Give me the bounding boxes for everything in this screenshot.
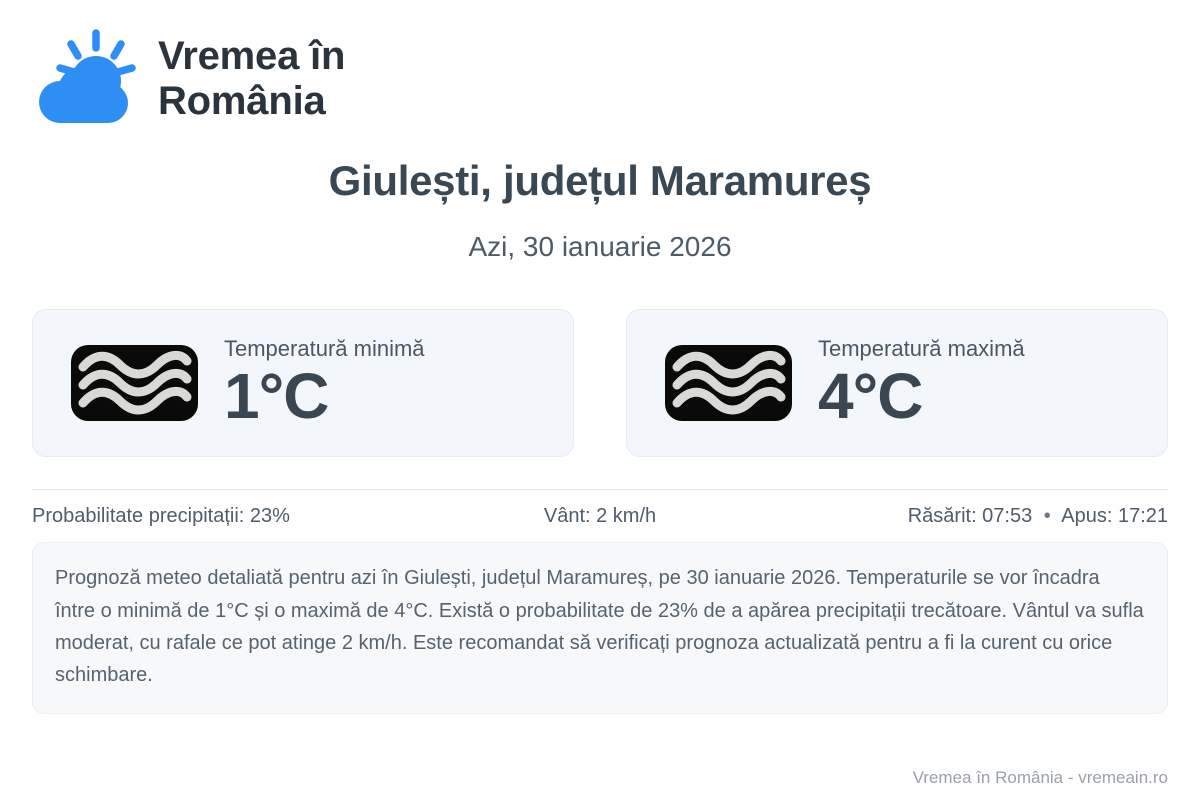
- temperature-card-min: Temperatură minimă 1°C: [32, 309, 574, 457]
- temperature-card-label: Temperatură minimă: [224, 336, 425, 361]
- temperature-card-body: Temperatură minimă 1°C: [224, 336, 425, 430]
- forecast-description-box: Prognoză meteo detaliată pentru azi în G…: [32, 542, 1168, 714]
- temperature-card-label: Temperatură maximă: [818, 336, 1025, 361]
- fog-icon: [663, 343, 794, 423]
- stat-sunrise: Răsărit: 07:53: [908, 505, 1033, 527]
- footer-credit: Vremea în România - vremeain.ro: [913, 768, 1168, 788]
- forecast-description-text: Prognoză meteo detaliată pentru azi în G…: [55, 562, 1145, 692]
- stat-precipitation: Probabilitate precipitații: 23%: [32, 505, 411, 528]
- temperature-card-body: Temperatură maximă 4°C: [818, 336, 1025, 430]
- page-title: Giulești, județul Maramureș: [32, 158, 1168, 204]
- brand-header: Vremea în România: [32, 0, 1168, 110]
- weather-page: Vremea în România Giulești, județul Mara…: [0, 0, 1200, 800]
- sun-behind-cloud-icon: [32, 27, 140, 131]
- stat-sun-times: Răsărit: 07:53 • Apus: 17:21: [789, 505, 1168, 528]
- brand-name: Vremea în România: [158, 34, 345, 124]
- temperature-card-max: Temperatură maximă 4°C: [626, 309, 1168, 457]
- temperature-card-value: 1°C: [224, 363, 425, 430]
- temperature-cards: Temperatură minimă 1°C Temperatură maxim…: [32, 309, 1168, 457]
- date-subtitle: Azi, 30 ianuarie 2026: [32, 232, 1168, 263]
- temperature-card-value: 4°C: [818, 363, 1025, 430]
- stat-separator-dot: •: [1038, 505, 1057, 527]
- weather-stats-row: Probabilitate precipitații: 23% Vânt: 2 …: [32, 490, 1168, 542]
- stat-sunset: Apus: 17:21: [1061, 505, 1168, 527]
- stat-wind: Vânt: 2 km/h: [411, 505, 790, 528]
- fog-icon: [69, 343, 200, 423]
